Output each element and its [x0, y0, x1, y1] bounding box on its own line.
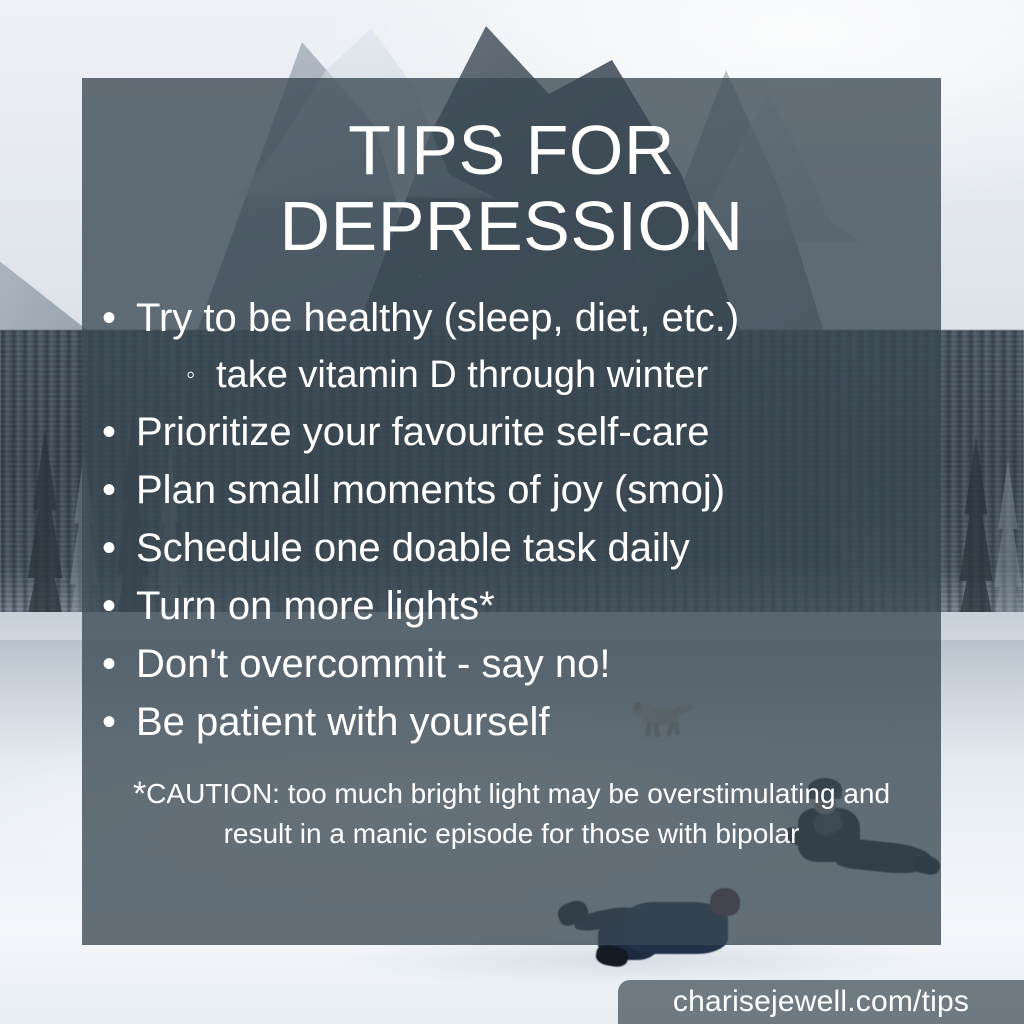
tip-text: Be patient with yourself	[136, 702, 921, 742]
bullet-icon: •	[102, 586, 136, 626]
tip-text: Prioritize your favourite self-care	[136, 412, 921, 452]
tip-text: Turn on more lights*	[136, 586, 921, 626]
asterisk-icon: *	[133, 775, 146, 813]
tip-text: Schedule one doable task daily	[136, 528, 921, 568]
bullet-icon: •	[102, 644, 136, 684]
tips-list: • Try to be healthy (sleep, diet, etc.) …	[102, 289, 921, 751]
tip-text: take vitamin D through winter	[216, 356, 921, 394]
tip-text: Try to be healthy (sleep, diet, etc.)	[136, 298, 921, 338]
list-item: ◦ take vitamin D through winter	[102, 347, 921, 403]
bullet-icon: •	[102, 470, 136, 510]
website-url-text: charisejewell.com/tips	[673, 985, 969, 1019]
caution-note: *CAUTION: too much bright light may be o…	[102, 773, 921, 852]
list-item: • Schedule one doable task daily	[102, 519, 921, 577]
page-title: TIPS FOR DEPRESSION	[102, 112, 921, 265]
list-item: • Plan small moments of joy (smoj)	[102, 461, 921, 519]
bullet-icon: •	[102, 702, 136, 742]
bullet-icon: •	[102, 412, 136, 452]
poster-canvas: TIPS FOR DEPRESSION • Try to be healthy …	[0, 0, 1024, 1024]
caution-text: CAUTION: too much bright light may be ov…	[146, 778, 890, 850]
list-item: • Be patient with yourself	[102, 693, 921, 751]
list-item: • Turn on more lights*	[102, 577, 921, 635]
list-item: • Don't overcommit - say no!	[102, 635, 921, 693]
bullet-icon: •	[102, 298, 136, 338]
list-item: • Prioritize your favourite self-care	[102, 403, 921, 461]
content-panel: TIPS FOR DEPRESSION • Try to be healthy …	[82, 78, 941, 945]
tip-text: Don't overcommit - say no!	[136, 644, 921, 684]
website-url-badge[interactable]: charisejewell.com/tips	[618, 980, 1024, 1024]
bullet-icon: •	[102, 528, 136, 568]
tip-text: Plan small moments of joy (smoj)	[136, 470, 921, 510]
sub-bullet-icon: ◦	[186, 356, 216, 394]
list-item: • Try to be healthy (sleep, diet, etc.)	[102, 289, 921, 347]
